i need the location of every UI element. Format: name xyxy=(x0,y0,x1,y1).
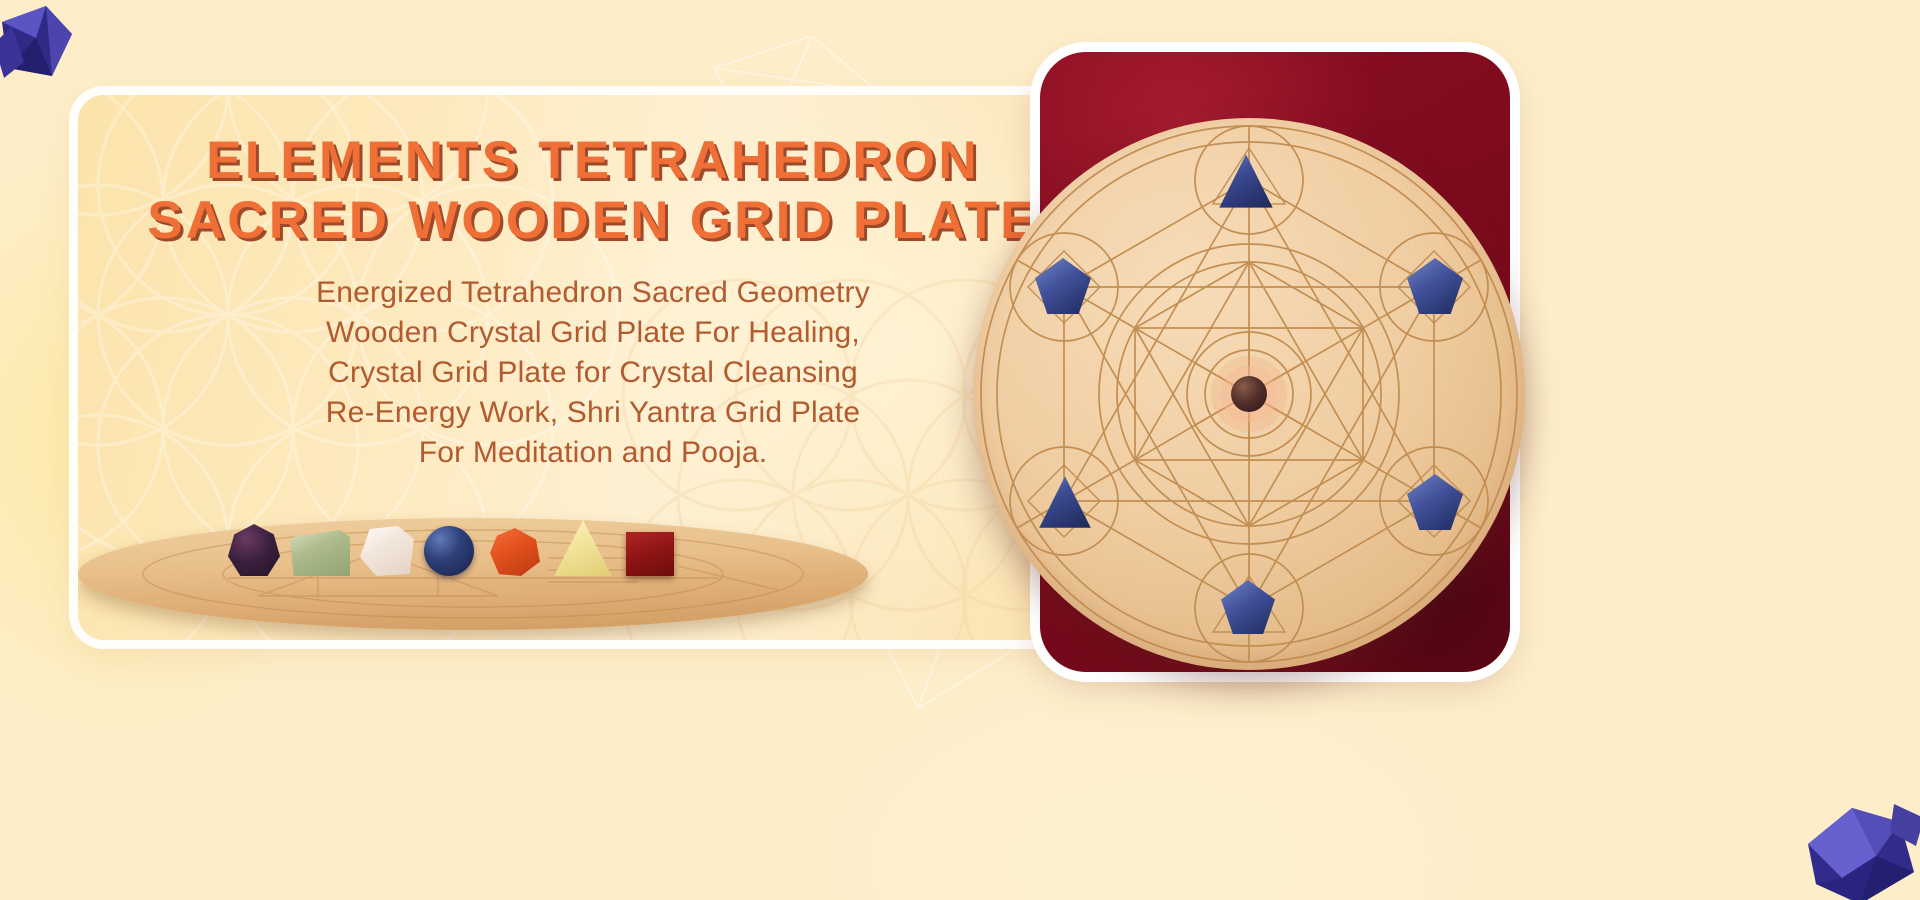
page-title: ELEMENTS TETRAHEDRON SACRED WOODEN GRID … xyxy=(78,131,1108,251)
crystal-amethyst-dodecahedron xyxy=(228,524,280,576)
stone-center xyxy=(1231,376,1267,412)
headline-line-2: SACRED WOODEN GRID PLATE xyxy=(114,191,1072,251)
description-line-4: Re-Energy Work, Shri Yantra Grid Plate xyxy=(138,393,1048,433)
headline-line-1: ELEMENTS TETRAHEDRON xyxy=(114,131,1072,191)
crystal-carnelian-icosahedron xyxy=(490,528,540,576)
plate-engraving xyxy=(78,518,868,630)
blue-gem-cluster-icon xyxy=(1790,774,1920,900)
wooden-crystal-grid-plate xyxy=(78,518,868,630)
description-line-1: Energized Tetrahedron Sacred Geometry xyxy=(138,273,1048,313)
description-line-2: Wooden Crystal Grid Plate For Healing, xyxy=(138,313,1048,353)
crystal-green-aventurine-cube xyxy=(290,530,350,576)
description-line-3: Crystal Grid Plate for Crystal Cleansing xyxy=(138,353,1048,393)
plate-edge xyxy=(78,528,868,638)
crystal-sodalite-sphere xyxy=(424,526,474,576)
crystal-clear-quartz-chunk xyxy=(360,526,414,576)
crystal-citrine-pyramid xyxy=(554,520,612,576)
description-line-5: For Meditation and Pooja. xyxy=(138,433,1048,473)
blue-gem-cluster-icon xyxy=(0,4,104,114)
wooden-plate-scene xyxy=(78,468,1108,640)
crystal-red-jasper-cube xyxy=(626,532,674,576)
info-card: ELEMENTS TETRAHEDRON SACRED WOODEN GRID … xyxy=(78,95,1108,640)
metatron-cube-grid-plate xyxy=(973,118,1525,670)
product-description: Energized Tetrahedron Sacred Geometry Wo… xyxy=(138,273,1048,473)
banner-stage: ELEMENTS TETRAHEDRON SACRED WOODEN GRID … xyxy=(0,0,1920,900)
